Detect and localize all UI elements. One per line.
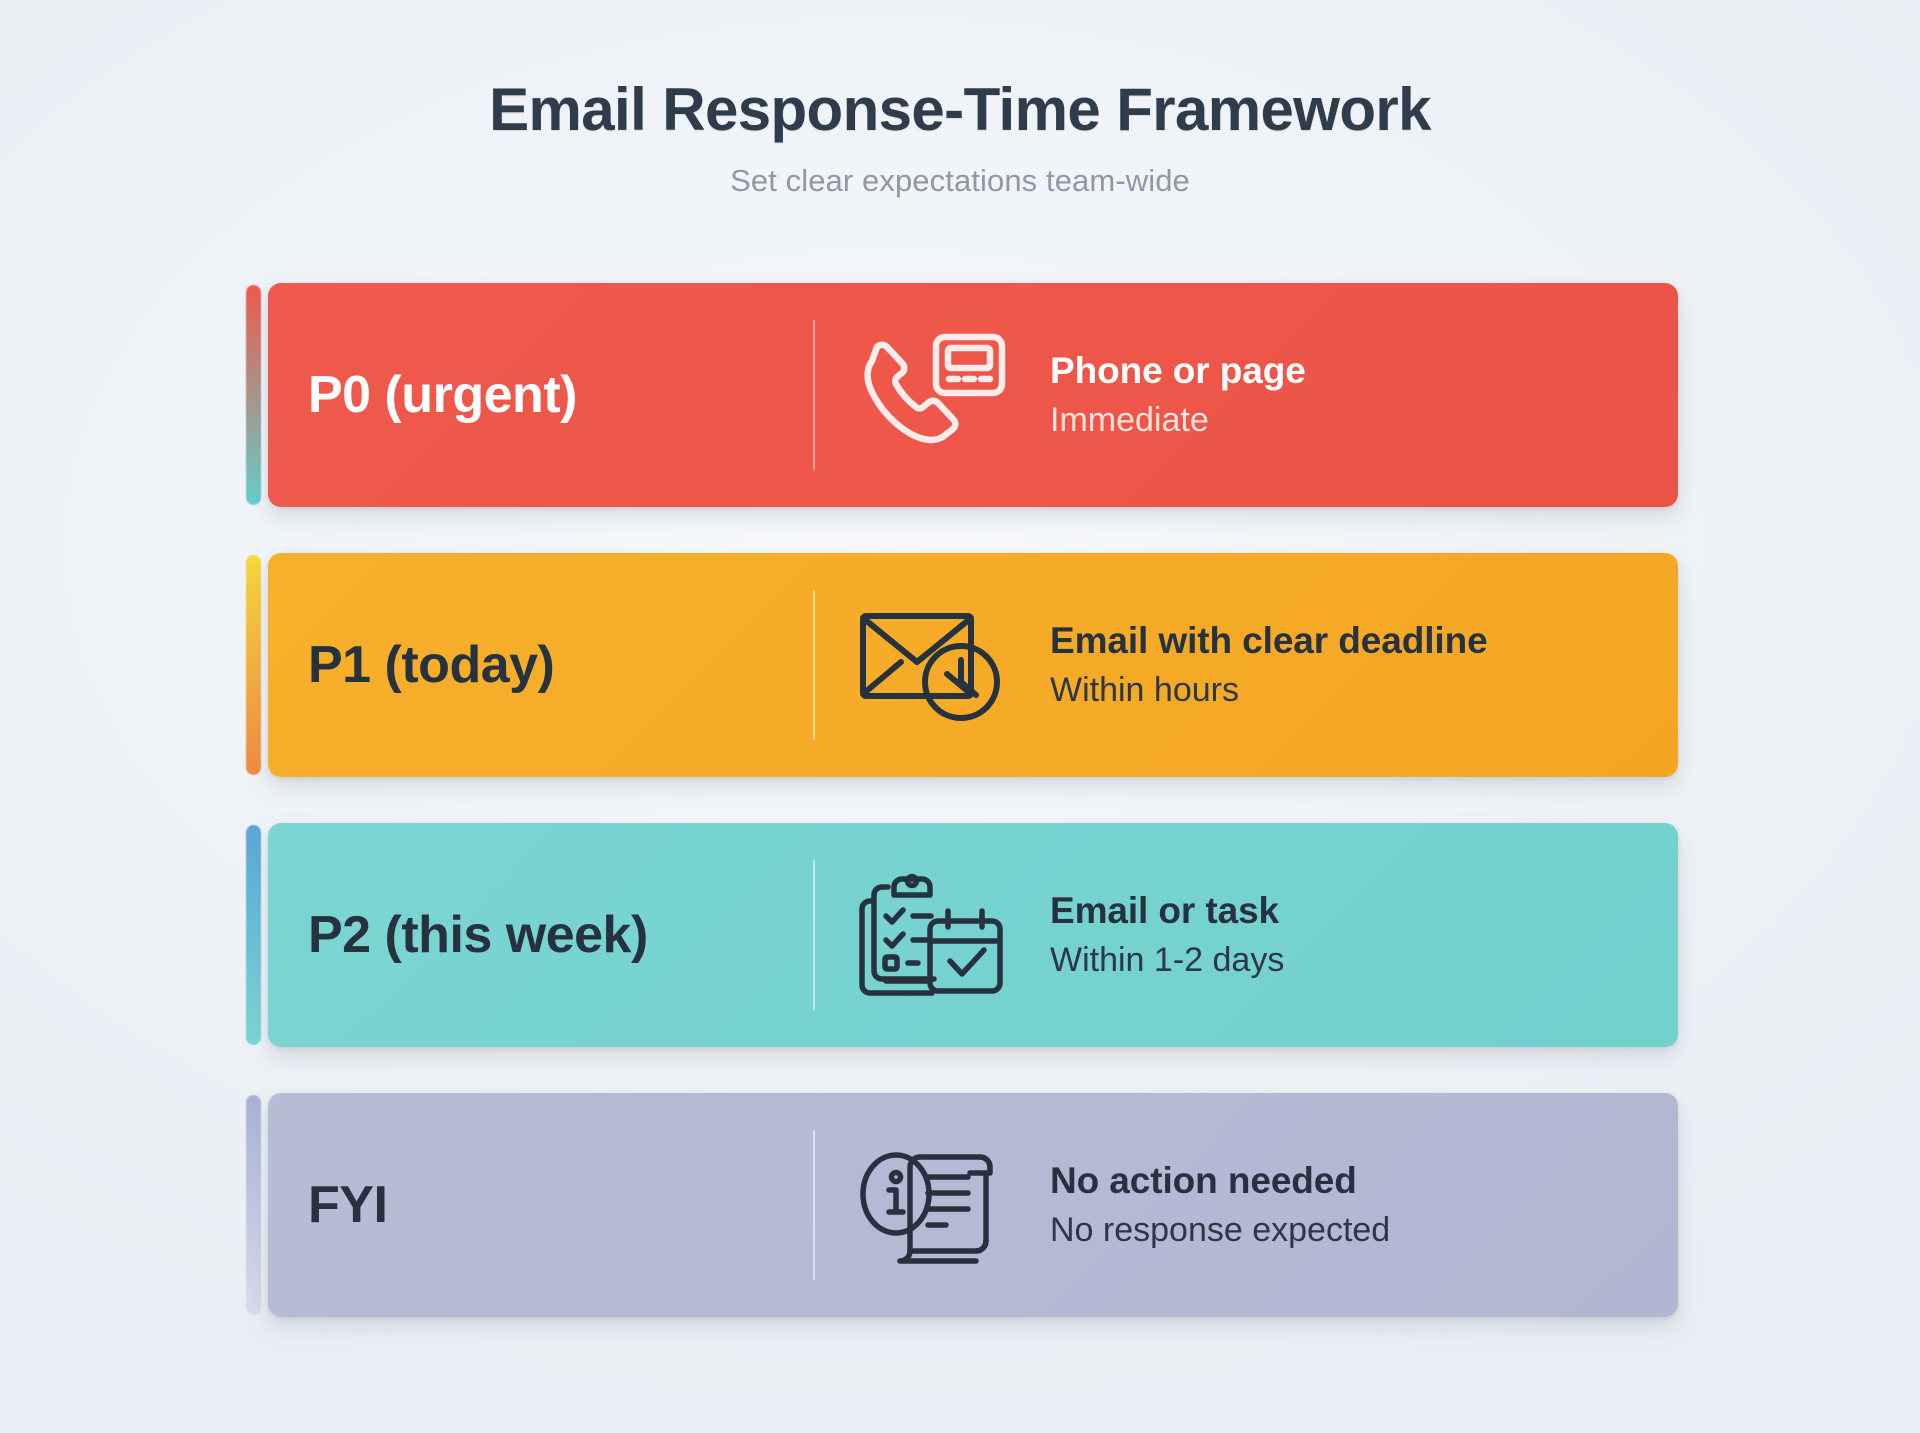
- page-title: Email Response-Time Framework: [0, 78, 1920, 141]
- accent-strip-p2: [246, 825, 261, 1045]
- priority-desc-cell-fyi: No action needed No response expected: [1050, 1159, 1678, 1251]
- priority-label-cell-fyi: FYI: [268, 1178, 813, 1233]
- priority-row-p2[interactable]: P2 (this week): [246, 823, 1678, 1047]
- priority-desc-title-p0: Phone or page: [1050, 349, 1638, 393]
- header: Email Response-Time Framework Set clear …: [0, 0, 1920, 199]
- priority-desc-sub-p1: Within hours: [1050, 670, 1638, 711]
- accent-strip-p0: [246, 285, 261, 505]
- priority-desc-sub-p0: Immediate: [1050, 400, 1638, 441]
- priority-label-cell-p0: P0 (urgent): [268, 368, 813, 423]
- priority-label-fyi: FYI: [308, 1178, 813, 1233]
- priority-rows-list: P0 (urgent) P: [246, 283, 1678, 1363]
- priority-desc-title-p2: Email or task: [1050, 889, 1638, 933]
- phone-pager-icon: [815, 331, 1050, 459]
- priority-desc-title-p1: Email with clear deadline: [1050, 619, 1638, 663]
- priority-band-p2[interactable]: P2 (this week): [268, 823, 1678, 1047]
- priority-label-cell-p1: P1 (today): [268, 638, 813, 693]
- priority-desc-cell-p0: Phone or page Immediate: [1050, 349, 1678, 441]
- priority-label-p0: P0 (urgent): [308, 368, 813, 423]
- clipboard-calendar-icon: [815, 869, 1050, 1001]
- priority-label-p1: P1 (today): [308, 638, 813, 693]
- accent-strip-p1: [246, 555, 261, 775]
- priority-desc-cell-p2: Email or task Within 1-2 days: [1050, 889, 1678, 981]
- priority-label-cell-p2: P2 (this week): [268, 908, 813, 963]
- envelope-clock-icon: [815, 604, 1050, 726]
- priority-band-p1[interactable]: P1 (today) Email with clea: [268, 553, 1678, 777]
- priority-row-p1[interactable]: P1 (today) Email with clea: [246, 553, 1678, 777]
- priority-desc-sub-p2: Within 1-2 days: [1050, 940, 1638, 981]
- priority-desc-sub-fyi: No response expected: [1050, 1210, 1638, 1251]
- priority-desc-cell-p1: Email with clear deadline Within hours: [1050, 619, 1678, 711]
- priority-band-p0[interactable]: P0 (urgent) P: [268, 283, 1678, 507]
- priority-label-p2: P2 (this week): [308, 908, 813, 963]
- info-scroll-icon: [815, 1139, 1050, 1271]
- priority-row-fyi[interactable]: FYI: [246, 1093, 1678, 1317]
- priority-row-p0[interactable]: P0 (urgent) P: [246, 283, 1678, 507]
- page-subtitle: Set clear expectations team-wide: [0, 163, 1920, 199]
- priority-desc-title-fyi: No action needed: [1050, 1159, 1638, 1203]
- priority-band-fyi[interactable]: FYI: [268, 1093, 1678, 1317]
- accent-strip-fyi: [246, 1095, 261, 1315]
